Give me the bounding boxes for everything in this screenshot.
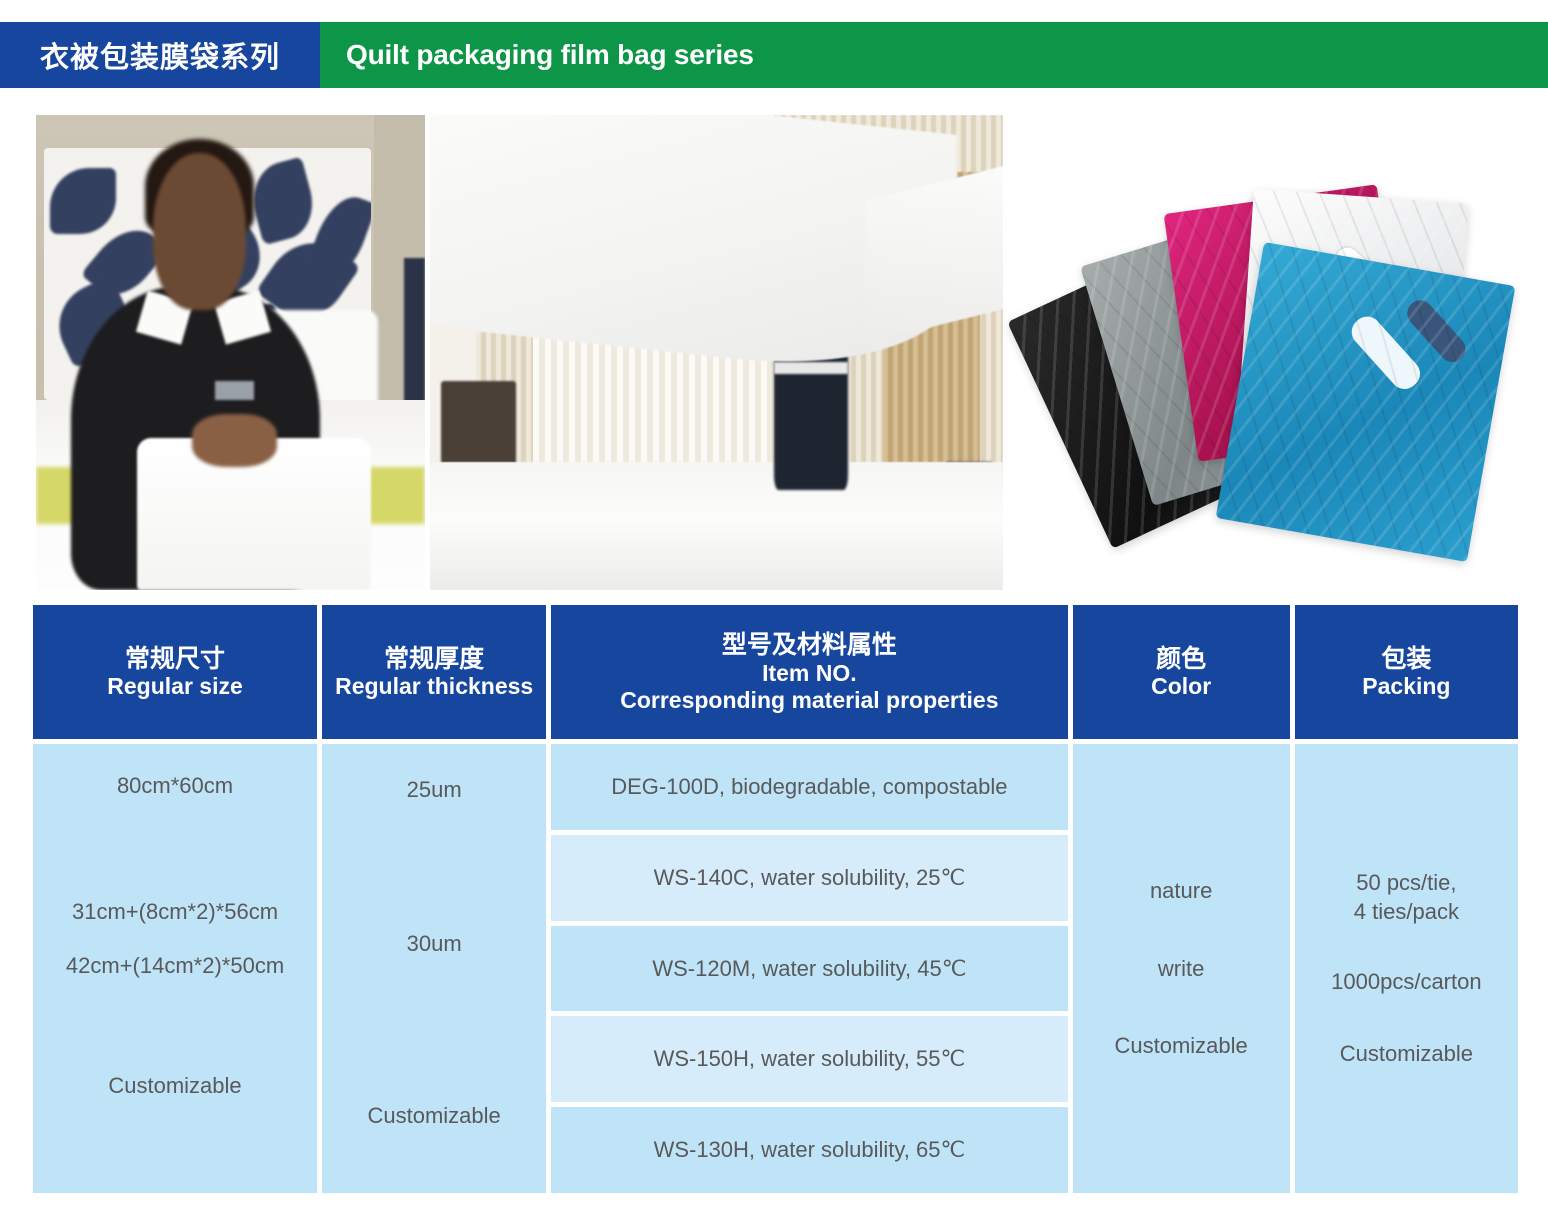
header-title-english: Quilt packaging film bag series (320, 22, 1548, 88)
header-item-no-en-line1: Item NO. (762, 660, 857, 687)
size-value-1: 80cm*60cm (117, 770, 233, 802)
photo-housekeeper-spreading-bed-sheet (430, 115, 1003, 590)
header-regular-size-en: Regular size (107, 673, 243, 700)
color-value-1: nature (1150, 875, 1212, 907)
size-value-4: Customizable (108, 1070, 241, 1102)
thickness-value-1: 25um (407, 774, 462, 806)
header-item-no-en-line2: Corresponding material properties (620, 687, 998, 714)
packing-value-1: 50 pcs/tie, 4 ties/pack (1354, 868, 1459, 926)
bag-blue (1216, 242, 1516, 562)
item-row: WS-120M, water solubility, 45℃ (551, 926, 1067, 1012)
item-row: DEG-100D, biodegradable, compostable (551, 744, 1067, 830)
packing-value-2: 1000pcs/carton (1331, 966, 1481, 998)
color-value-3: Customizable (1114, 1030, 1247, 1062)
specification-table: 常规尺寸 Regular size 80cm*60cm 31cm+(8cm*2)… (33, 605, 1518, 1193)
color-value-2: write (1158, 953, 1204, 985)
header-color-en: Color (1151, 673, 1211, 700)
handle-shadow (1402, 295, 1471, 367)
cell-regular-size: 80cm*60cm 31cm+(8cm*2)*56cm 42cm+(14cm*2… (33, 744, 317, 1193)
column-item-no: 型号及材料属性 Item NO. Corresponding material … (551, 605, 1067, 1193)
header-item-no: 型号及材料属性 Item NO. Corresponding material … (551, 605, 1067, 739)
thickness-value-2: 30um (407, 928, 462, 960)
item-row: WS-130H, water solubility, 65℃ (551, 1107, 1067, 1193)
column-regular-thickness: 常规厚度 Regular thickness 25um 30um Customi… (322, 605, 546, 1193)
film-crease-texture (1216, 242, 1516, 562)
photo-housekeeper-with-folded-towels (36, 115, 425, 590)
header-color: 颜色 Color (1073, 605, 1290, 739)
size-value-2: 31cm+(8cm*2)*56cm (72, 896, 278, 928)
item-row: WS-150H, water solubility, 55℃ (551, 1016, 1067, 1102)
page-header-band: 衣被包装膜袋系列 Quilt packaging film bag series (0, 22, 1548, 88)
header-regular-size-cn: 常规尺寸 (125, 644, 225, 674)
header-regular-size: 常规尺寸 Regular size (33, 605, 317, 739)
item-row: WS-140C, water solubility, 25℃ (551, 835, 1067, 921)
header-color-cn: 颜色 (1156, 644, 1206, 674)
header-regular-thickness-cn: 常规厚度 (384, 644, 484, 674)
header-packing-en: Packing (1362, 673, 1450, 700)
worker-apron-tie (774, 362, 848, 374)
column-packing: 包装 Packing 50 pcs/tie, 4 ties/pack 1000p… (1295, 605, 1518, 1193)
cell-packing: 50 pcs/tie, 4 ties/pack 1000pcs/carton C… (1295, 744, 1518, 1193)
product-spec-sheet: 衣被包装膜袋系列 Quilt packaging film bag series (0, 0, 1548, 1222)
uniform-name-badge (215, 381, 254, 400)
housekeeper-face (153, 153, 246, 310)
size-value-3: 42cm+(14cm*2)*50cm (66, 950, 284, 982)
header-title-chinese: 衣被包装膜袋系列 (0, 22, 320, 88)
header-packing-cn: 包装 (1381, 644, 1431, 674)
photo-plastic-die-cut-handle-bags (1040, 170, 1520, 560)
thickness-value-3: Customizable (368, 1100, 501, 1132)
column-color: 颜色 Color nature write Customizable (1073, 605, 1290, 1193)
header-item-no-cn: 型号及材料属性 (722, 630, 897, 660)
bed-mattress (430, 462, 1003, 590)
cell-color: nature write Customizable (1073, 744, 1290, 1193)
packing-value-3: Customizable (1340, 1038, 1473, 1070)
cell-regular-thickness: 25um 30um Customizable (322, 744, 546, 1193)
column-regular-size: 常规尺寸 Regular size 80cm*60cm 31cm+(8cm*2)… (33, 605, 317, 1193)
header-packing: 包装 Packing (1295, 605, 1518, 739)
header-regular-thickness: 常规厚度 Regular thickness (322, 605, 546, 739)
header-regular-thickness-en: Regular thickness (335, 673, 533, 700)
housekeeper-hands (192, 414, 278, 466)
